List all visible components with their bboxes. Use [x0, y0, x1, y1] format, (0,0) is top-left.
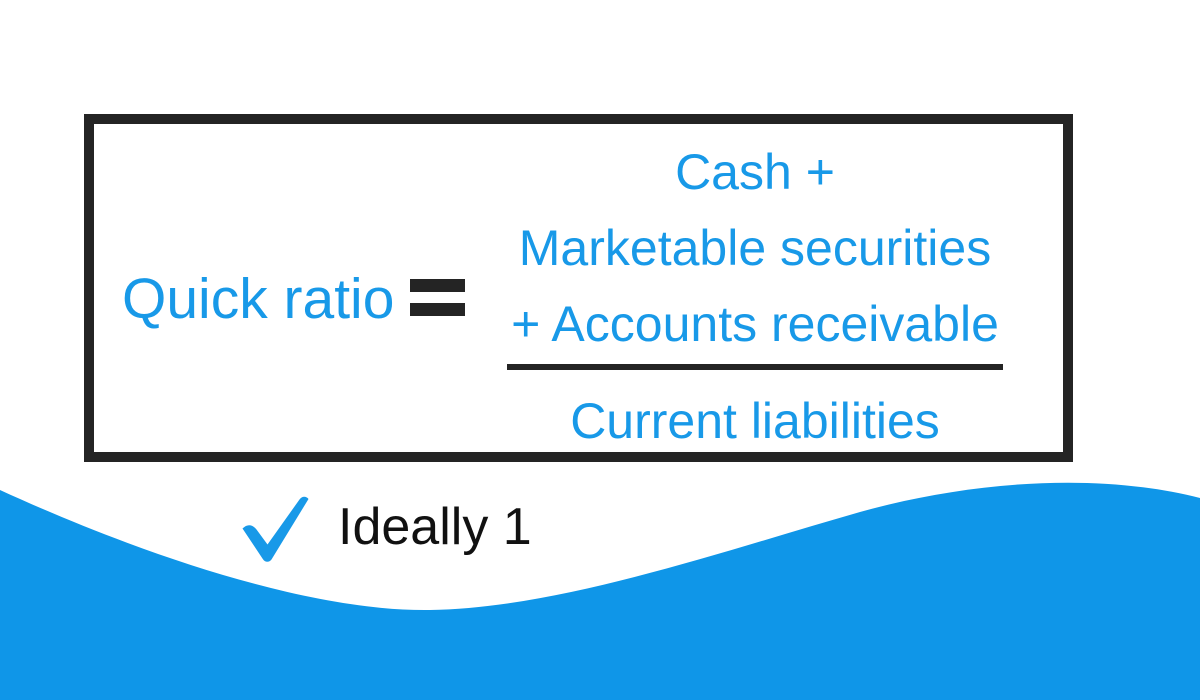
numerator-line-1: Cash +	[490, 134, 1020, 210]
formula-row: Quick ratio Cash + Marketable securities…	[94, 124, 1063, 452]
poster-canvas: Quick ratio Cash + Marketable securities…	[0, 0, 1200, 700]
check-mark-icon	[240, 495, 312, 563]
quick-ratio-label: Quick ratio	[122, 271, 394, 328]
check-mark-path	[243, 497, 309, 562]
fraction: Cash + Marketable securities + Accounts …	[490, 134, 1020, 446]
wave-path	[0, 483, 1200, 700]
equals-sign-icon	[410, 279, 465, 316]
equals-bar-top	[410, 279, 465, 292]
numerator-line-3: + Accounts receivable	[490, 286, 1020, 362]
fraction-numerator: Cash + Marketable securities + Accounts …	[490, 134, 1020, 362]
formula-box: Quick ratio Cash + Marketable securities…	[84, 114, 1073, 462]
footnote: Ideally 1	[240, 495, 532, 563]
numerator-line-2: Marketable securities	[490, 210, 1020, 286]
footnote-label: Ideally 1	[338, 501, 532, 557]
equals-bar-bottom	[410, 303, 465, 316]
fraction-bar	[507, 364, 1003, 370]
fraction-denominator: Current liabilities	[490, 396, 1020, 446]
